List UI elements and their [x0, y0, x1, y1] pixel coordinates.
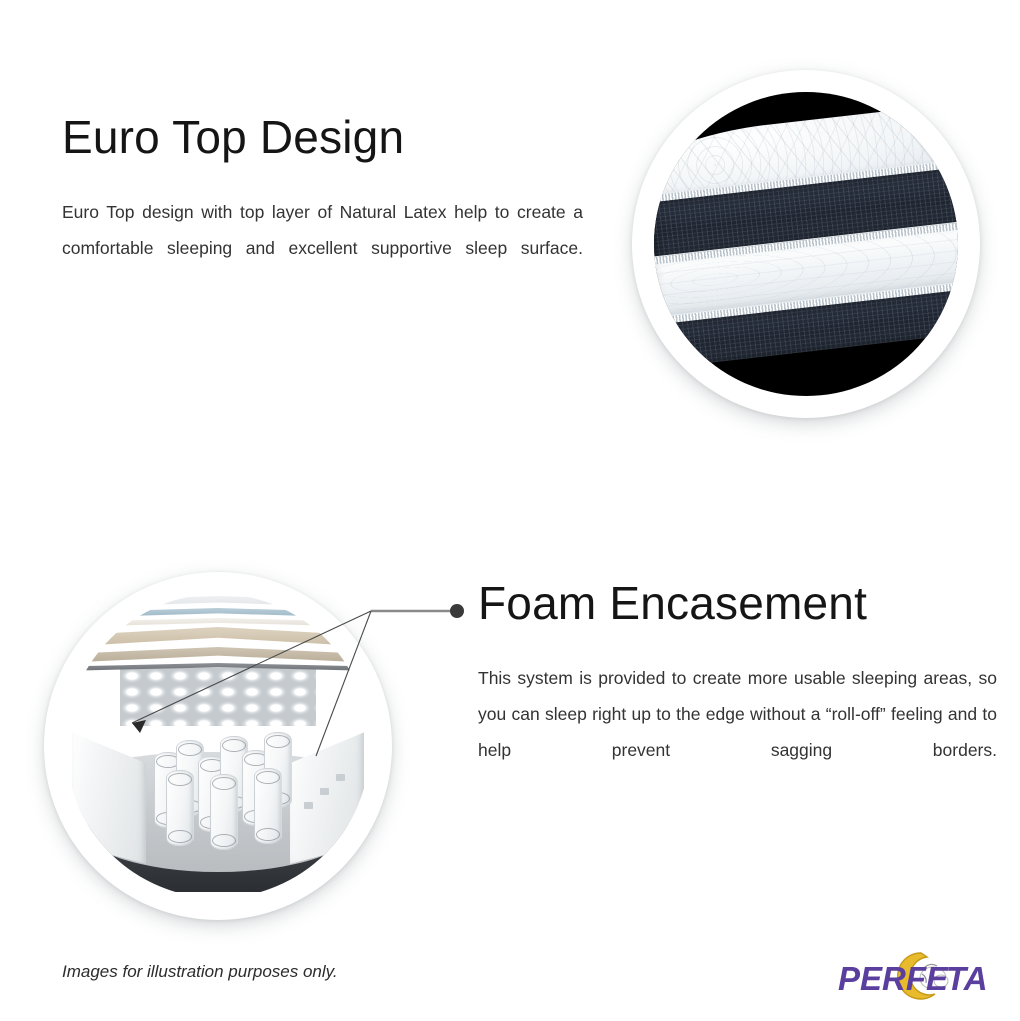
infographic-canvas: Euro Top Design Euro Top design with top… — [0, 0, 1020, 1021]
foam-layer-blue — [66, 608, 370, 618]
foam-layer-stack — [66, 594, 370, 708]
euro-top-mattress-image — [654, 92, 958, 396]
foam-layer-tan — [66, 627, 370, 647]
callout-dot — [450, 604, 464, 618]
logo-text-before: PERFE — [838, 960, 949, 997]
foam-encasement-wall-right — [290, 724, 364, 864]
foam-encasement-body-text: This system is provided to create more u… — [478, 660, 997, 804]
euro-top-image-frame — [632, 70, 980, 418]
euro-top-body-text: Euro Top design with top layer of Natura… — [62, 194, 583, 302]
mattress-cutaway-illustration — [66, 594, 370, 898]
pocketed-coil — [166, 770, 194, 846]
mattress-cross-section-illustration — [654, 102, 958, 369]
euro-top-heading: Euro Top Design — [62, 114, 404, 160]
wall-marking — [320, 788, 329, 795]
pocketed-coil — [254, 768, 282, 844]
foam-encasement-wall-left — [72, 724, 146, 864]
logo-text-after: TA — [946, 960, 988, 997]
wall-marking — [336, 774, 345, 781]
pocketed-coil-group — [150, 712, 292, 844]
foam-layer-cream — [66, 618, 370, 627]
pocketed-coil — [210, 774, 238, 850]
foam-encasement-heading: Foam Encasement — [478, 580, 867, 626]
perfecta-logo: PERFE TA — [838, 948, 998, 1004]
foam-layer-grey — [66, 663, 370, 671]
foam-encasement-cutaway-image — [66, 594, 370, 898]
foam-layer-white-top — [66, 596, 370, 608]
foam-encasement-image-frame — [44, 572, 392, 920]
disclaimer-text: Images for illustration purposes only. — [62, 962, 338, 982]
foam-layer-tan-lower — [66, 647, 370, 663]
wall-marking — [304, 802, 313, 809]
